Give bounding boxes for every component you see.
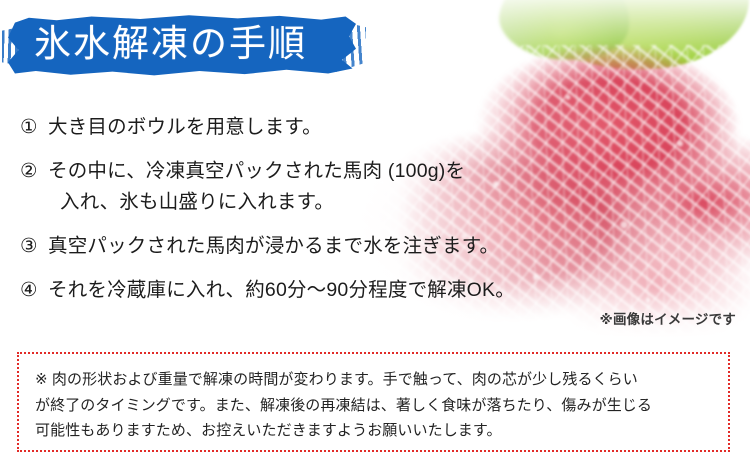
step-text: それを冷蔵庫に入れ、約60分〜90分程度で解凍OK。 — [48, 275, 580, 306]
image-disclaimer: ※画像はイメージです — [600, 311, 736, 329]
step-text: 真空パックされた馬肉が浸かるまで水を注ぎます。 — [48, 231, 580, 262]
notice-line-3: 可能性もありますため、お控えいただきますようお願いいたします。 — [35, 418, 713, 444]
title-banner: 氷水解凍の手順 — [8, 14, 356, 76]
step-line-2: 入れ、氷も山盛りに入れます。 — [48, 187, 580, 218]
notice-box: ※ 肉の形状および重量で解凍の時間が変わります。手で触って、肉の芯が少し残るくら… — [17, 352, 730, 452]
step-number: ④ — [20, 275, 48, 306]
list-item: ③ 真空パックされた馬肉が浸かるまで水を注ぎます。 — [20, 231, 580, 262]
promo-panel: 氷水解凍の手順 ① 大き目のボウルを用意します。 ② その中に、冷凍真空パックさ… — [0, 0, 750, 465]
step-line-1: その中に、冷凍真空パックされた馬肉 (100g)を — [48, 160, 465, 182]
notice-line-1: ※ 肉の形状および重量で解凍の時間が変わります。手で触って、肉の芯が少し残るくら… — [35, 367, 713, 393]
notice-text: ※ 肉の形状および重量で解凍の時間が変わります。手で触って、肉の芯が少し残るくら… — [19, 354, 728, 444]
step-line-1: それを冷蔵庫に入れ、約60分〜90分程度で解凍OK。 — [48, 279, 515, 301]
list-item: ④ それを冷蔵庫に入れ、約60分〜90分程度で解凍OK。 — [20, 275, 580, 306]
step-text: その中に、冷凍真空パックされた馬肉 (100g)を 入れ、氷も山盛りに入れます。 — [48, 156, 580, 218]
step-line-1: 大き目のボウルを用意します。 — [48, 116, 322, 138]
list-item: ② その中に、冷凍真空パックされた馬肉 (100g)を 入れ、氷も山盛りに入れま… — [20, 156, 580, 218]
step-text: 大き目のボウルを用意します。 — [48, 112, 580, 143]
steps-list: ① 大き目のボウルを用意します。 ② その中に、冷凍真空パックされた馬肉 (10… — [20, 112, 580, 319]
step-number: ③ — [20, 231, 48, 262]
step-number: ② — [20, 156, 48, 187]
step-line-1: 真空パックされた馬肉が浸かるまで水を注ぎます。 — [48, 235, 499, 257]
list-item: ① 大き目のボウルを用意します。 — [20, 112, 580, 143]
page-title: 氷水解凍の手順 — [34, 23, 307, 67]
step-number: ① — [20, 112, 48, 143]
notice-line-2: が終了のタイミングです。また、解凍後の再凍結は、著しく食味が落ちたり、傷みが生じ… — [35, 393, 713, 419]
